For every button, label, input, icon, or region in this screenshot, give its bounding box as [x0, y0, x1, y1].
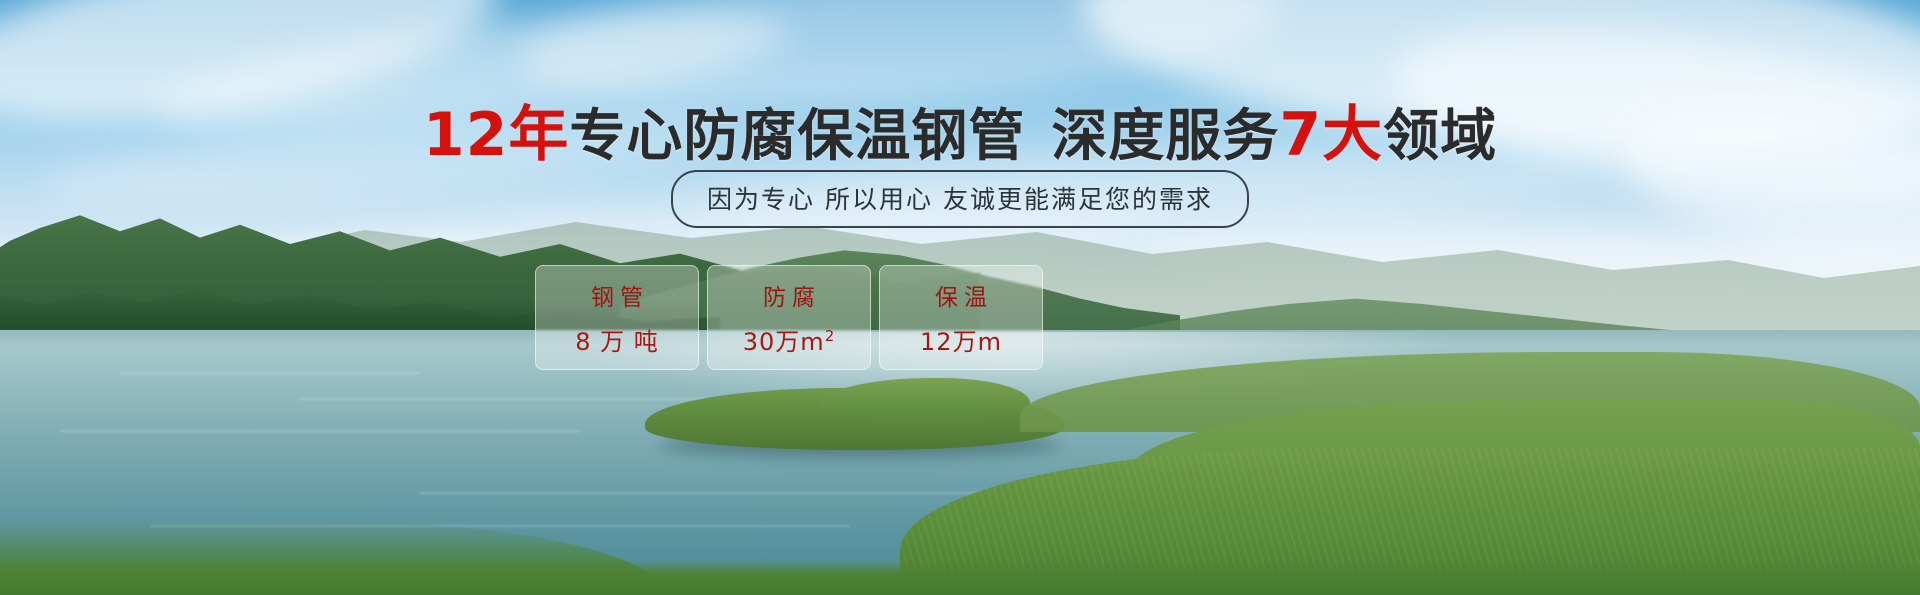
- water-ripple: [60, 430, 580, 432]
- stat-card-value: 12万m: [920, 322, 1002, 357]
- water-ripple: [300, 398, 720, 400]
- stat-card-insulation[interactable]: 保温 12万m: [879, 265, 1043, 370]
- headline-main: 专心防腐保温钢管: [569, 104, 1025, 169]
- headline-service: 深度服务: [1051, 104, 1279, 169]
- stat-card-anticorrosion[interactable]: 防腐 30万m2: [707, 265, 871, 370]
- water-ripple: [420, 492, 1020, 494]
- stat-value-text: 30万m: [743, 328, 825, 356]
- water-ripple: [120, 372, 420, 374]
- stat-value-text: 8 万 吨: [575, 328, 659, 356]
- subtitle-container: 因为专心 所以用心 友诚更能满足您的需求: [0, 170, 1920, 228]
- headline-count: 7大: [1279, 100, 1383, 170]
- stat-card-steel-pipe[interactable]: 钢管 8 万 吨: [535, 265, 699, 370]
- stat-value-text: 12万m: [920, 328, 1002, 356]
- stat-card-title: 防腐: [757, 278, 821, 312]
- stat-card-value: 8 万 吨: [575, 322, 659, 357]
- promo-banner: 12年专心防腐保温钢管深度服务7大领域 因为专心 所以用心 友诚更能满足您的需求…: [0, 0, 1920, 595]
- stat-card-group: 钢管 8 万 吨 防腐 30万m2 保温 12万m: [535, 265, 1043, 370]
- stat-card-title: 保温: [929, 278, 993, 312]
- banner-subtitle: 因为专心 所以用心 友诚更能满足您的需求: [671, 170, 1249, 228]
- stat-card-value: 30万m2: [743, 322, 835, 357]
- stat-value-superscript: 2: [825, 327, 836, 345]
- headline-years: 12年: [423, 100, 570, 170]
- grass-foreground: [0, 560, 1920, 595]
- banner-headline: 12年专心防腐保温钢管深度服务7大领域: [0, 86, 1920, 173]
- stat-card-title: 钢管: [585, 278, 649, 312]
- headline-fields: 领域: [1383, 104, 1497, 169]
